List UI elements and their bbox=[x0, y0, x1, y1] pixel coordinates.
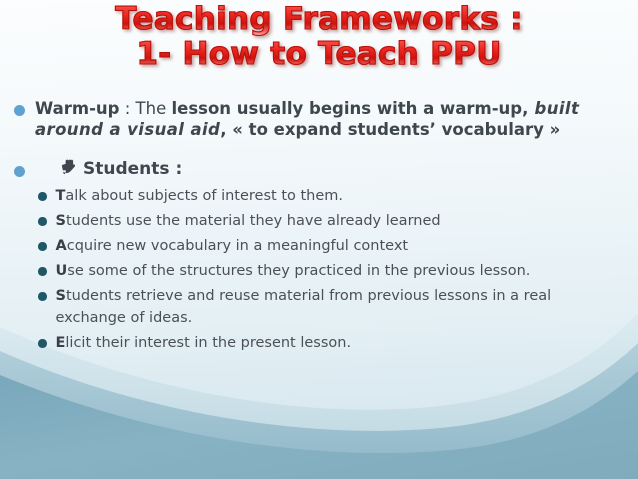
students-heading-label: Students : bbox=[61, 158, 182, 179]
slide-canvas: Teaching Frameworks : 1- How to Teach PP… bbox=[0, 0, 638, 479]
warm-up-connector: : The bbox=[119, 99, 171, 118]
list-item-text: Acquire new vocabulary in a meaningful c… bbox=[56, 235, 409, 257]
list-item-text: Elicit their interest in the present les… bbox=[56, 332, 352, 354]
slide-title: Teaching Frameworks : 1- How to Teach PP… bbox=[0, 2, 638, 71]
bullet-dot-icon bbox=[14, 166, 25, 177]
list-item: Students retrieve and reuse material fro… bbox=[38, 285, 620, 329]
students-heading-text: Students : bbox=[83, 159, 182, 179]
warm-up-bold-part: lesson usually begins with a warm-up, bbox=[171, 99, 528, 118]
sub-bullet-dot-icon bbox=[38, 192, 47, 201]
bullet-dot-icon bbox=[14, 105, 25, 116]
warm-up-text: Warm-up : The lesson usually begins with… bbox=[35, 98, 595, 140]
list-item-text: Talk about subjects of interest to them. bbox=[56, 185, 344, 207]
sub-bullet-dot-icon bbox=[38, 217, 47, 226]
title-line-2: 1- How to Teach PPU bbox=[0, 37, 638, 72]
students-action-list: Talk about subjects of interest to them.… bbox=[38, 185, 620, 354]
list-item-rest: licit their interest in the present less… bbox=[65, 335, 351, 351]
sub-bullet-dot-icon bbox=[38, 339, 47, 348]
list-item-text: Use some of the structures they practice… bbox=[56, 260, 531, 282]
sub-bullet-dot-icon bbox=[38, 242, 47, 251]
list-item-initial: U bbox=[56, 263, 68, 279]
list-item-initial: E bbox=[56, 335, 66, 351]
list-item-rest: tudents use the material they have alrea… bbox=[66, 213, 441, 229]
list-item-initial: S bbox=[56, 288, 66, 304]
warm-up-term: Warm-up bbox=[35, 99, 119, 118]
list-item-initial: S bbox=[56, 213, 66, 229]
bullet-students-heading: Students : bbox=[10, 158, 620, 179]
list-item: Use some of the structures they practice… bbox=[38, 260, 620, 282]
pointing-hand-icon bbox=[61, 159, 76, 180]
list-item-rest: alk about subjects of interest to them. bbox=[65, 188, 343, 204]
list-item-rest: cquire new vocabulary in a meaningful co… bbox=[67, 238, 408, 254]
list-item-initial: T bbox=[56, 188, 66, 204]
slide-body: Warm-up : The lesson usually begins with… bbox=[10, 98, 620, 357]
list-item-rest: tudents retrieve and reuse material from… bbox=[56, 288, 552, 326]
list-item: Students use the material they have alre… bbox=[38, 210, 620, 232]
sub-bullet-dot-icon bbox=[38, 267, 47, 276]
list-item: Elicit their interest in the present les… bbox=[38, 332, 620, 354]
title-line-1: Teaching Frameworks : bbox=[0, 2, 638, 37]
list-item-text: Students use the material they have alre… bbox=[56, 210, 441, 232]
warm-up-quote-part: « to expand students’ vocabulary » bbox=[227, 120, 561, 139]
list-item: Acquire new vocabulary in a meaningful c… bbox=[38, 235, 620, 257]
list-item: Talk about subjects of interest to them. bbox=[38, 185, 620, 207]
list-item-initial: A bbox=[56, 238, 67, 254]
list-item-text: Students retrieve and reuse material fro… bbox=[56, 285, 596, 329]
bullet-warm-up: Warm-up : The lesson usually begins with… bbox=[10, 98, 620, 140]
list-item-rest: se some of the structures they practiced… bbox=[67, 263, 530, 279]
sub-bullet-dot-icon bbox=[38, 292, 47, 301]
